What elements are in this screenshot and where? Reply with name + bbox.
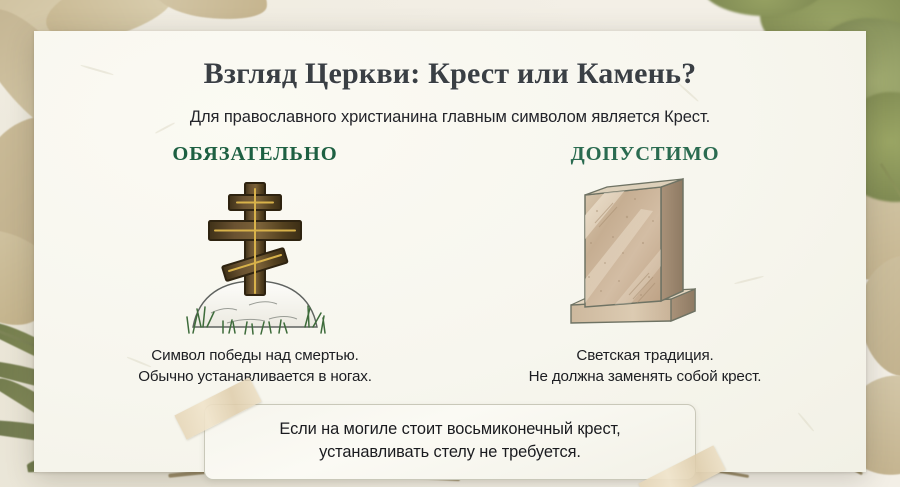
subtitle: Для православного христианина главным си… xyxy=(60,108,840,127)
page-title: Взгляд Церкви: Крест или Камень? xyxy=(60,57,840,91)
caption-line: Светская традиция. xyxy=(529,346,762,367)
caption-obligatory: Символ победы над смертью. Обычно устана… xyxy=(138,346,372,388)
caption-line: Символ победы над смертью. xyxy=(138,346,372,367)
caption-permissible: Светская традиция. Не должна заменять со… xyxy=(529,346,762,388)
caption-line: Обычно устанавливается в ногах. xyxy=(138,367,372,388)
conclusion-line: Если на могиле стоит восьмиконечный крес… xyxy=(223,418,677,441)
column-heading-permissible: ДОПУСТИМО xyxy=(571,143,720,166)
column-heading-obligatory: ОБЯЗАТЕЛЬНО xyxy=(172,143,337,166)
gravestone-illustration-wrap xyxy=(555,172,735,337)
cross-body xyxy=(209,183,301,295)
orthodox-cross-icon xyxy=(165,177,345,337)
comparison-columns: ОБЯЗАТЕЛЬНО xyxy=(60,143,840,388)
gravestone-stele-icon xyxy=(555,177,735,337)
conclusion-wrapper: Если на могиле стоит восьмиконечный крес… xyxy=(204,404,696,480)
column-permissible: ДОПУСТИМО xyxy=(450,143,840,388)
conclusion-line: устанавливать стелу не требуется. xyxy=(223,441,677,464)
caption-line: Не должна заменять собой крест. xyxy=(529,367,762,388)
column-obligatory: ОБЯЗАТЕЛЬНО xyxy=(60,143,450,388)
conclusion-box: Если на могиле стоит восьмиконечный крес… xyxy=(204,404,696,480)
cross-illustration-wrap xyxy=(165,172,345,337)
stele-body xyxy=(573,179,683,311)
infographic-card: Взгляд Церкви: Крест или Камень? Для пра… xyxy=(34,31,866,472)
